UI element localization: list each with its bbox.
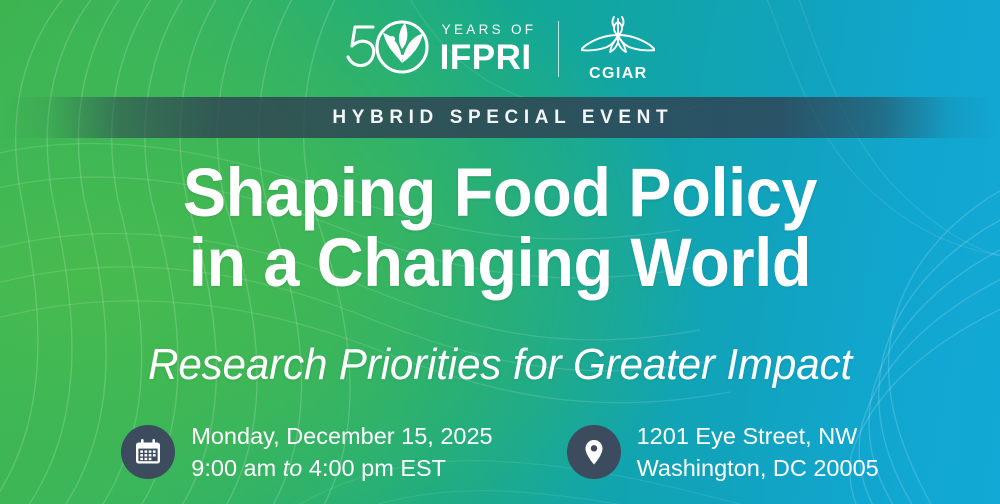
ifpri-wordmark: YEARS OF IFPRI bbox=[440, 23, 537, 75]
event-time-separator: to bbox=[283, 455, 303, 481]
fifty-years-leaf-icon bbox=[345, 19, 431, 80]
event-type-badge: HYBRID SPECIAL EVENT bbox=[0, 97, 1000, 138]
cgiar-name: CGIAR bbox=[589, 65, 648, 83]
cgiar-wheat-icon bbox=[581, 15, 655, 62]
event-banner: YEARS OF IFPRI bbox=[0, 0, 1000, 504]
event-date-block: Monday, December 15, 2025 9:00 am to 4:0… bbox=[121, 420, 492, 485]
event-date: Monday, December 15, 2025 bbox=[191, 420, 492, 452]
event-title: Shaping Food Policy in a Changing World bbox=[0, 158, 1000, 299]
event-subtitle: Research Priorities for Greater Impact bbox=[20, 340, 980, 390]
ifpri-name: IFPRI bbox=[440, 40, 532, 75]
ifpri-logo: YEARS OF IFPRI bbox=[345, 19, 537, 80]
logo-divider bbox=[558, 21, 559, 77]
event-time: 9:00 am to 4:00 pm EST bbox=[191, 452, 492, 484]
event-title-line-1: Shaping Food Policy bbox=[30, 158, 970, 228]
cgiar-logo: CGIAR bbox=[581, 15, 655, 83]
event-time-end: 4:00 pm EST bbox=[309, 455, 446, 481]
event-address-street: 1201 Eye Street, NW bbox=[637, 420, 879, 452]
event-location-block: 1201 Eye Street, NW Washington, DC 20005 bbox=[567, 420, 879, 485]
event-type-label: HYBRID SPECIAL EVENT bbox=[327, 107, 673, 129]
years-of-label: YEARS OF bbox=[442, 23, 537, 37]
event-address-city: Washington, DC 20005 bbox=[637, 452, 879, 484]
event-details: Monday, December 15, 2025 9:00 am to 4:0… bbox=[0, 420, 1000, 485]
map-pin-icon bbox=[567, 425, 621, 479]
event-location-text: 1201 Eye Street, NW Washington, DC 20005 bbox=[637, 420, 879, 485]
event-date-text: Monday, December 15, 2025 9:00 am to 4:0… bbox=[191, 420, 492, 485]
event-title-line-2: in a Changing World bbox=[30, 228, 970, 298]
event-time-start: 9:00 am bbox=[191, 455, 276, 481]
logo-header: YEARS OF IFPRI bbox=[0, 12, 1000, 86]
calendar-icon bbox=[121, 425, 175, 479]
